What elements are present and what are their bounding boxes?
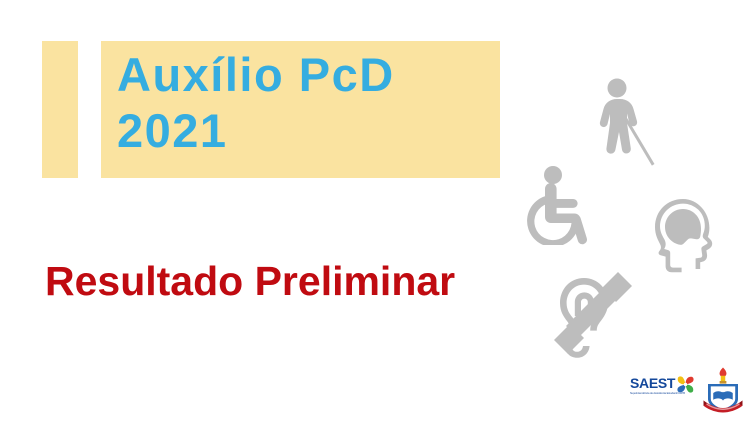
page-subtitle: Resultado Preliminar <box>45 258 455 305</box>
logo-row: SAEST Superintendência de Assistência Es… <box>630 366 742 416</box>
title-accent-bar <box>42 41 78 178</box>
blind-person-cane-icon <box>596 78 658 170</box>
page-title: Auxílio PcD 2021 <box>117 47 507 159</box>
wheelchair-icon <box>524 165 598 245</box>
page-title-line-1: Auxílio PcD <box>117 47 507 103</box>
accessibility-icon-cluster <box>510 60 746 370</box>
page-title-line-2: 2021 <box>117 103 507 159</box>
saest-swirl-icon <box>676 375 695 394</box>
poster-canvas: Auxílio PcD 2021 Resultado Preliminar <box>0 0 746 423</box>
university-crest <box>702 366 744 414</box>
saest-wordmark: SAEST <box>630 376 675 390</box>
deaf-ear-icon <box>550 268 636 364</box>
head-brain-icon <box>650 197 720 275</box>
saest-logo: SAEST Superintendência de Assistência Es… <box>630 375 698 405</box>
